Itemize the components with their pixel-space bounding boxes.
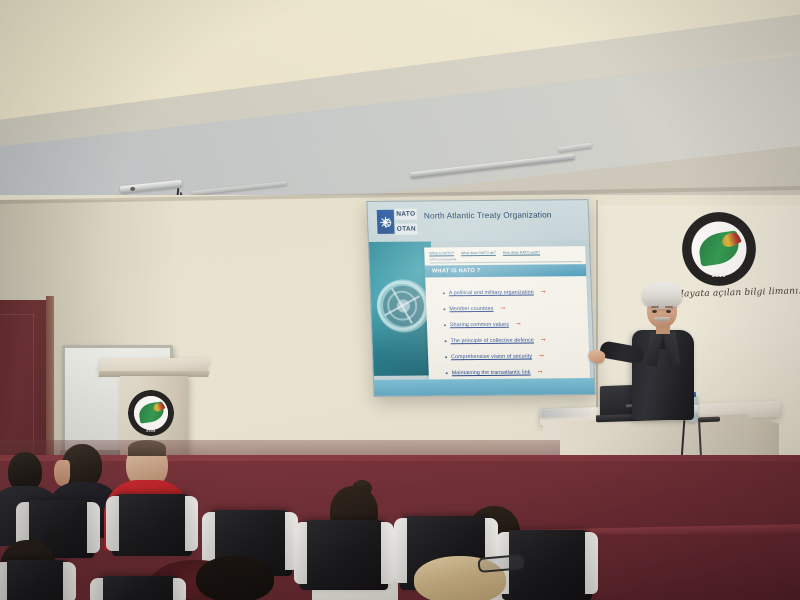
university-emblem: 2006 [682, 212, 756, 286]
bullet-dot-icon [445, 340, 447, 342]
auditorium-seat[interactable] [0, 560, 70, 600]
lectern-university-emblem: 2006 [128, 390, 174, 436]
list-item[interactable]: The principle of collective defence ➞ [427, 332, 589, 349]
nav-link-1[interactable]: What does NATO do? [461, 251, 496, 256]
presenter-eyebrow [665, 306, 673, 308]
emblem-leaf-icon [137, 402, 164, 425]
slide-section-heading: WHAT IS NATO ? [425, 268, 481, 274]
arrow-right-icon: ➞ [541, 337, 546, 343]
arrow-right-icon: ➞ [500, 306, 505, 312]
audience-face [54, 460, 70, 486]
nato-compass-star-icon [377, 210, 395, 234]
list-item[interactable]: A political and military organization ➞ [426, 284, 588, 301]
stage-edge [0, 455, 800, 461]
bullet-text: A political and military organization [449, 290, 534, 297]
emblem-leaf-icon [697, 231, 741, 267]
bullet-text: Member countries [449, 306, 493, 312]
lecture-hall-photo: NATO OTAN North Atlantic Treaty Organiza… [0, 0, 800, 600]
cable-connector [698, 417, 720, 423]
bullet-text: Sharing common values [450, 322, 509, 329]
slide-surface: NATO OTAN North Atlantic Treaty Organiza… [366, 199, 595, 397]
slide-org-title: North Atlantic Treaty Organization [424, 210, 582, 220]
bullet-text: Maintaining the transatlantic link [452, 370, 531, 377]
bullet-text: Comprehensive vision of security [451, 354, 532, 361]
arrow-right-icon: ➞ [537, 369, 542, 375]
bullet-dot-icon [445, 356, 447, 358]
slide-content-card: What is NATO? What does NATO do? How doe… [424, 246, 590, 381]
presenter-eye [666, 310, 671, 313]
bullet-dot-icon [444, 324, 446, 326]
arrow-right-icon: ➞ [541, 289, 546, 295]
slide-bullet-list: A political and military organization ➞ … [425, 280, 590, 381]
bullet-dot-icon [446, 372, 448, 374]
auditorium-seat[interactable] [96, 576, 180, 600]
presenter-mustache [654, 317, 670, 321]
arrow-right-icon: ➞ [539, 353, 544, 359]
presenter-eye [652, 310, 657, 313]
emblem-year: 2006 [128, 429, 174, 433]
presenter [612, 282, 712, 417]
audience-hair [128, 440, 166, 456]
audience-head [196, 556, 274, 600]
emblem-year: 2006 [682, 273, 756, 279]
bullet-dot-icon [443, 292, 445, 294]
presenter-eyebrow [651, 306, 659, 308]
projection-screen: NATO OTAN North Atlantic Treaty Organiza… [366, 199, 595, 397]
nato-logo-line2: OTAN [395, 224, 417, 235]
nav-link-2[interactable]: How does NATO work? [503, 251, 540, 256]
list-item[interactable]: Sharing common values ➞ [427, 316, 589, 333]
arrow-right-icon: ➞ [516, 322, 521, 328]
list-item[interactable]: Comprehensive vision of security ➞ [428, 348, 590, 365]
nav-link-0[interactable]: What is NATO? [429, 251, 454, 256]
slide-titlebar: NATO OTAN North Atlantic Treaty Organiza… [367, 200, 589, 242]
lectern-top [98, 358, 209, 372]
slide-footer-band [374, 378, 595, 396]
slide-section-band: WHAT IS NATO ? [425, 264, 586, 277]
auditorium-seat[interactable] [300, 520, 388, 590]
presenter-hair [642, 282, 682, 309]
nato-wordmark: NATO OTAN [395, 209, 418, 235]
slide-subnav: NATO Encyclopedia [429, 257, 456, 261]
list-item[interactable]: Member countries ➞ [426, 300, 588, 317]
bullet-text: The principle of collective defence [450, 338, 534, 345]
desk-reflection [540, 407, 590, 419]
bullet-dot-icon [443, 308, 445, 310]
nato-logo-line1: NATO [395, 209, 417, 220]
auditorium-seat[interactable] [112, 494, 192, 556]
